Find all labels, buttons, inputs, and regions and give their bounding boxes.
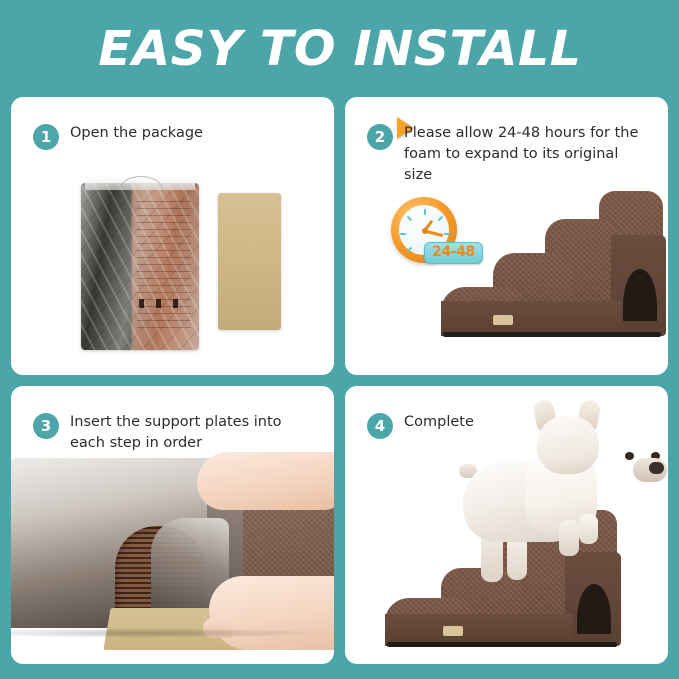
step-card-3: 3 Insert the support plates into each st… xyxy=(11,386,334,664)
step-badge-1: 1 xyxy=(33,124,59,150)
dog-nose xyxy=(649,462,664,474)
steps-grid: 1 Open the package xyxy=(11,97,668,664)
brand-label-tag xyxy=(443,626,463,636)
package-seal xyxy=(85,174,195,190)
stairs-front-apron xyxy=(441,301,621,336)
stairs-base xyxy=(387,642,617,647)
step-3-header: 3 Insert the support plates into each st… xyxy=(11,386,334,454)
step-card-2: 24-48 2 Please allow 24-48 hours for the… xyxy=(345,97,668,375)
hand-upper xyxy=(197,452,334,510)
clock-tick xyxy=(400,233,406,235)
brand-label-tag xyxy=(493,315,513,325)
package-print-text xyxy=(137,201,191,331)
sealed-foam-package xyxy=(81,183,199,350)
package-symbols xyxy=(139,299,189,308)
step-2-header: 2 Please allow 24-48 hours for the foam … xyxy=(345,97,668,186)
step-text-4: Complete xyxy=(404,412,474,433)
stairs-base xyxy=(443,332,661,337)
clock-tick xyxy=(407,216,413,222)
hand-lower xyxy=(209,576,334,650)
poster-title-bar: EASY TO INSTALL xyxy=(11,0,668,97)
step-text-1: Open the package xyxy=(70,123,203,144)
step-4-header: 4 Complete xyxy=(345,386,668,439)
pet-stairs-product xyxy=(441,191,666,336)
step-badge-4: 4 xyxy=(367,413,393,439)
step-text-2: Please allow 24-48 hours for the foam to… xyxy=(404,123,649,186)
step-card-4: 4 Complete xyxy=(345,386,668,664)
easy-to-install-poster: EASY TO INSTALL 1 Open the package xyxy=(0,0,679,679)
page-title: EASY TO INSTALL xyxy=(98,25,581,73)
package-illustration xyxy=(81,175,281,360)
insert-plate-scene xyxy=(11,458,334,664)
step-text-3: Insert the support plates into each step… xyxy=(70,412,315,454)
floor-shadow xyxy=(11,628,334,638)
step-card-1: 1 Open the package xyxy=(11,97,334,375)
dog-front-leg-left xyxy=(559,520,579,556)
dog-front-leg-right xyxy=(579,514,598,544)
step-badge-3: 3 xyxy=(33,413,59,439)
step-1-header: 1 Open the package xyxy=(11,97,334,150)
clock-tick xyxy=(407,247,413,253)
clock-tick xyxy=(424,209,426,215)
step-badge-2: 2 xyxy=(367,124,393,150)
clock-center-pin xyxy=(422,228,428,234)
cardboard-support-plate xyxy=(218,193,281,330)
dog-eye-left xyxy=(625,452,634,460)
